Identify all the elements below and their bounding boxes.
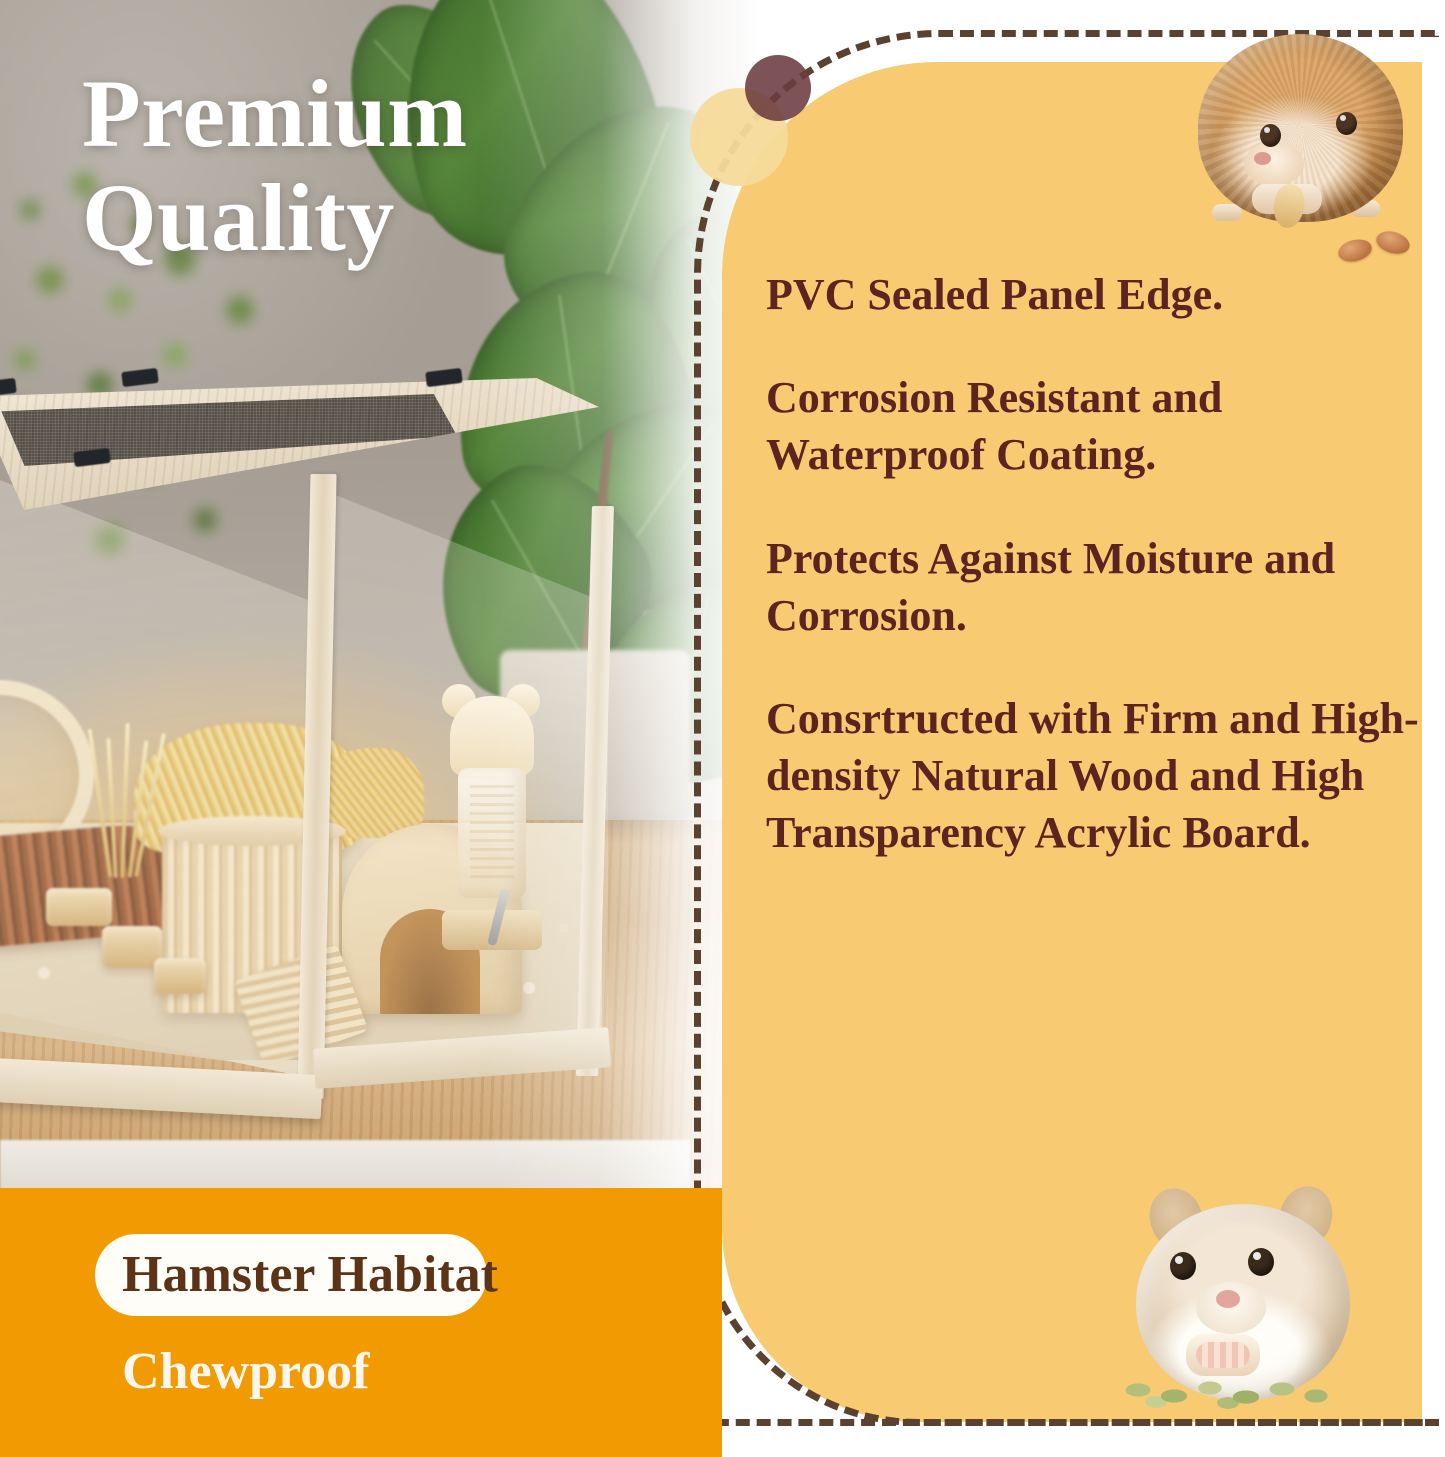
hamster-photo-cream: [1128, 1190, 1378, 1430]
hamster-foot: [1212, 204, 1242, 221]
hamster-eye: [1260, 124, 1281, 147]
hamster-nose: [1216, 1290, 1240, 1308]
mesh-screen: [0, 394, 457, 466]
acrylic-panel-left: [0, 470, 319, 1080]
lid-hinge: [0, 378, 17, 397]
feature-list: PVC Sealed Panel Edge. Corrosion Resista…: [766, 266, 1426, 862]
banner-subtitle: Chewproof: [122, 1340, 642, 1404]
lid-hinge: [121, 368, 159, 387]
headline-line-2: Quality: [82, 166, 702, 270]
feature-item: Protects Against Moisture and Corrosion.: [766, 530, 1426, 644]
hamster-paws: [1186, 1334, 1260, 1376]
hamster-eye: [1170, 1252, 1196, 1280]
bottom-banner: [0, 1188, 722, 1457]
hamster-nose: [1254, 152, 1271, 165]
page-title: Premium Quality: [82, 62, 702, 269]
feature-item: Consrtructed with Firm and High-density …: [766, 690, 1426, 862]
hamster-photo-ginger: [1188, 16, 1418, 246]
headline-line-1: Premium: [82, 60, 468, 167]
infographic-canvas: Premium Quality PVC Sealed Panel Edge. C…: [0, 0, 1445, 1457]
pumpkin-seeds: [1120, 1372, 1340, 1410]
decorative-circle-maroon: [745, 55, 811, 121]
hamster-eye: [1336, 112, 1357, 135]
feature-item: PVC Sealed Panel Edge.: [766, 266, 1426, 323]
banner-title: Hamster Habitat: [122, 1243, 642, 1307]
hamster-snout: [1244, 142, 1304, 186]
hamster-eye: [1248, 1248, 1274, 1276]
feature-item: Corrosion Resistant and Waterproof Coati…: [766, 369, 1426, 483]
